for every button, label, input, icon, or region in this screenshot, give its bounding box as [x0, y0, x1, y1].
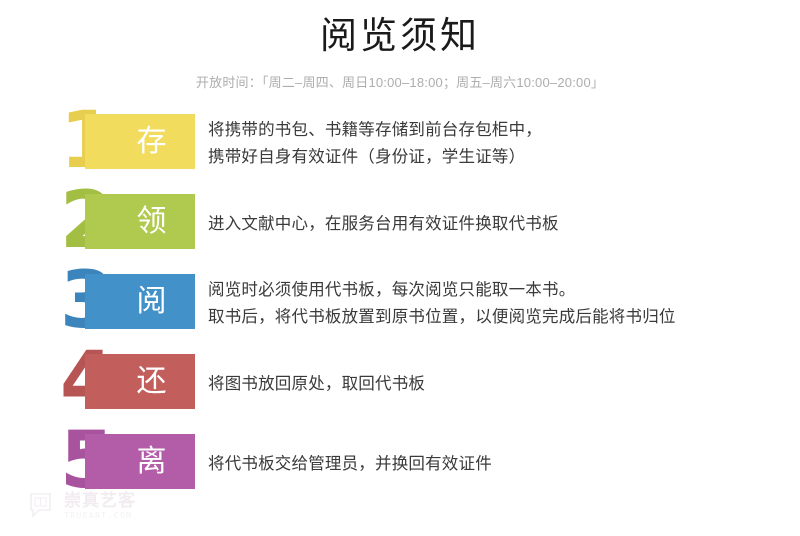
- step-description-line: 取书后，将代书板放置到原书位置，以便阅览完成后能将书归位: [208, 304, 783, 331]
- step-keyword: 还: [122, 354, 182, 409]
- step-badge: 1存: [60, 104, 195, 184]
- step-description-line: 阅览时必须使用代书板，每次阅览只能取一本书。: [208, 277, 783, 304]
- step-description-line: 将代书板交给管理员，并换回有效证件: [208, 451, 783, 478]
- step-description-line: 进入文献中心，在服务台用有效证件换取代书板: [208, 211, 783, 238]
- step-badge: 3阅: [60, 264, 195, 344]
- step-row: 2领进入文献中心，在服务台用有效证件换取代书板: [0, 184, 800, 264]
- step-row: 4还将图书放回原处，取回代书板: [0, 344, 800, 424]
- step-keyword: 领: [122, 194, 182, 249]
- step-badge: 4还: [60, 344, 195, 424]
- watermark-brand-en: TRUEART.COM: [64, 512, 136, 520]
- opening-hours-subtitle: 开放时间：「周二–周四、周日10:00–18:00；周五–周六10:00–20:…: [0, 74, 800, 92]
- step-badge: 2领: [60, 184, 195, 264]
- step-description: 将图书放回原处，取回代书板: [208, 344, 783, 424]
- page-title: 阅览须知: [0, 12, 800, 60]
- step-description-line: 将图书放回原处，取回代书板: [208, 371, 783, 398]
- reading-notice-poster: 阅览须知 开放时间：「周二–周四、周日10:00–18:00；周五–周六10:0…: [0, 0, 800, 536]
- step-row: 5离将代书板交给管理员，并换回有效证件: [0, 424, 800, 504]
- step-keyword: 存: [122, 114, 182, 169]
- step-description: 将代书板交给管理员，并换回有效证件: [208, 424, 783, 504]
- step-badge: 5离: [60, 424, 195, 504]
- step-row: 3阅阅览时必须使用代书板，每次阅览只能取一本书。取书后，将代书板放置到原书位置，…: [0, 264, 800, 344]
- step-description: 阅览时必须使用代书板，每次阅览只能取一本书。取书后，将代书板放置到原书位置，以便…: [208, 264, 783, 344]
- step-keyword: 阅: [122, 274, 182, 329]
- step-description: 进入文献中心，在服务台用有效证件换取代书板: [208, 184, 783, 264]
- step-description-line: 将携带的书包、书籍等存储到前台存包柜中，: [208, 117, 783, 144]
- steps-list: 1存将携带的书包、书籍等存储到前台存包柜中，携带好自身有效证件（身份证，学生证等…: [0, 104, 800, 504]
- step-keyword: 离: [122, 434, 182, 489]
- step-description-line: 携带好自身有效证件（身份证，学生证等）: [208, 144, 783, 171]
- step-description: 将携带的书包、书籍等存储到前台存包柜中，携带好自身有效证件（身份证，学生证等）: [208, 104, 783, 184]
- step-row: 1存将携带的书包、书籍等存储到前台存包柜中，携带好自身有效证件（身份证，学生证等…: [0, 104, 800, 184]
